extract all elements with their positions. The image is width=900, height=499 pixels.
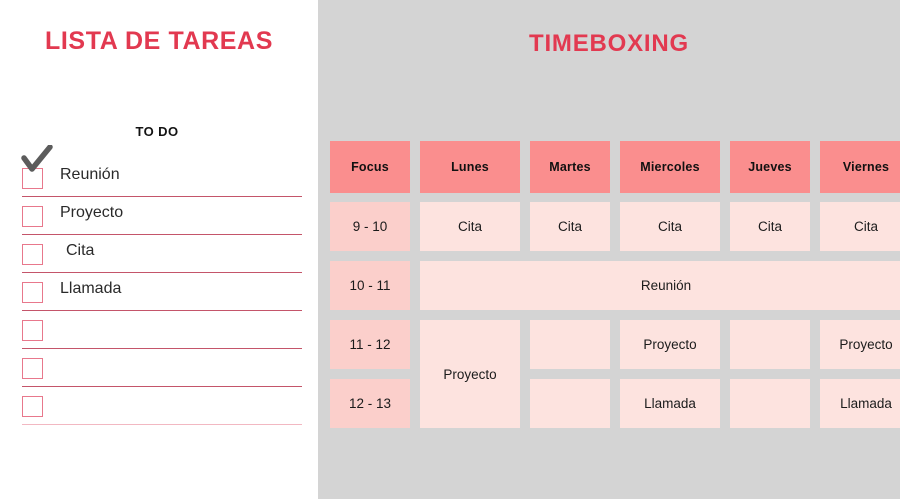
time-slot-12-13: 12 - 13 — [330, 379, 410, 428]
todo-panel-title: LISTA DE TAREAS — [0, 27, 318, 56]
table-header-lunes: Lunes — [420, 141, 520, 193]
todo-panel: LISTA DE TAREAS TO DO Reunión Proyecto C… — [0, 0, 318, 499]
todo-item-label: Llamada — [60, 280, 121, 298]
checkbox-proyecto[interactable] — [22, 206, 43, 227]
table-header-viernes: Viernes — [820, 141, 900, 193]
time-slot-9-10: 9 - 10 — [330, 202, 410, 251]
cell-martes-9-10[interactable]: Cita — [530, 202, 610, 251]
cell-jueves-9-10[interactable]: Cita — [730, 202, 810, 251]
todo-list-item[interactable] — [22, 387, 302, 425]
timeboxing-panel: TIMEBOXING Focus Lunes Martes Miercoles … — [318, 0, 900, 499]
checkbox-empty-3[interactable] — [22, 396, 43, 417]
time-slot-11-12: 11 - 12 — [330, 320, 410, 369]
todo-list-item[interactable]: Reunión — [22, 159, 302, 197]
timeboxing-table: Focus Lunes Martes Miercoles Jueves Vier… — [330, 141, 892, 426]
cell-jueves-11-12[interactable] — [730, 320, 810, 369]
cell-merged-reunion[interactable]: Reunión — [420, 261, 900, 310]
checkbox-empty-2[interactable] — [22, 358, 43, 379]
todo-item-label: Proyecto — [60, 204, 123, 222]
poster-root: LISTA DE TAREAS TO DO Reunión Proyecto C… — [0, 0, 900, 499]
cell-miercoles-12-13[interactable]: Llamada — [620, 379, 720, 428]
checkbox-reunion[interactable] — [22, 168, 43, 189]
todo-section-label: TO DO — [0, 124, 318, 139]
cell-viernes-9-10[interactable]: Cita — [820, 202, 900, 251]
cell-viernes-11-12[interactable]: Proyecto — [820, 320, 900, 369]
todo-item-label: Reunión — [60, 166, 120, 184]
table-header-martes: Martes — [530, 141, 610, 193]
cell-viernes-12-13[interactable]: Llamada — [820, 379, 900, 428]
checkbox-llamada[interactable] — [22, 282, 43, 303]
todo-list-item[interactable] — [22, 311, 302, 349]
cell-miercoles-11-12[interactable]: Proyecto — [620, 320, 720, 369]
todo-list: Reunión Proyecto Cita Llamada — [22, 159, 302, 425]
checkbox-empty-1[interactable] — [22, 320, 43, 341]
table-header-miercoles: Miercoles — [620, 141, 720, 193]
todo-list-item[interactable]: Llamada — [22, 273, 302, 311]
todo-item-label: Cita — [66, 242, 94, 260]
cell-jueves-12-13[interactable] — [730, 379, 810, 428]
table-header-focus: Focus — [330, 141, 410, 193]
time-slot-10-11: 10 - 11 — [330, 261, 410, 310]
cell-martes-12-13[interactable] — [530, 379, 610, 428]
cell-merged-lunes-proyecto[interactable]: Proyecto — [420, 320, 520, 428]
table-header-jueves: Jueves — [730, 141, 810, 193]
todo-list-item[interactable]: Proyecto — [22, 197, 302, 235]
checkbox-cita[interactable] — [22, 244, 43, 265]
cell-miercoles-9-10[interactable]: Cita — [620, 202, 720, 251]
cell-martes-11-12[interactable] — [530, 320, 610, 369]
todo-list-item[interactable] — [22, 349, 302, 387]
cell-lunes-9-10[interactable]: Cita — [420, 202, 520, 251]
timeboxing-panel-title: TIMEBOXING — [318, 30, 900, 58]
todo-list-item[interactable]: Cita — [22, 235, 302, 273]
